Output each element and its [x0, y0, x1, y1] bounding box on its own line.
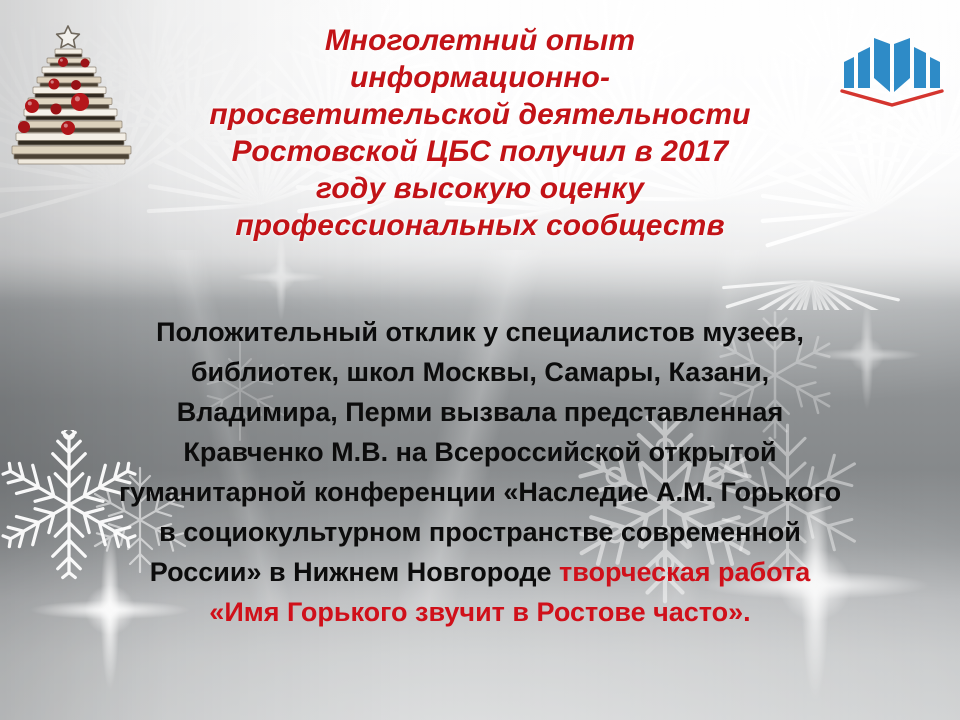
body-text-run: в социокультурном пространстве современн… — [159, 517, 801, 547]
title-line: Ростовской ЦБС получил в 2017 — [150, 133, 810, 170]
body-text-run: библиотек, школ Москвы, Самары, Казани, — [191, 357, 769, 387]
body-text-run: Кравченко М.В. на Всероссийской открытой — [183, 437, 776, 467]
body-line: «Имя Горького звучит в Ростове часто». — [20, 592, 940, 632]
body-text-run: России» в Нижнем Новгороде — [150, 557, 559, 587]
body-line: Положительный отклик у специалистов музе… — [20, 312, 940, 352]
body-line: Владимира, Перми вызвала представленная — [20, 392, 940, 432]
slide-body-text: Положительный отклик у специалистов музе… — [20, 312, 940, 632]
body-text-highlight: творческая работа — [559, 557, 810, 587]
title-line: году высокую оценку — [150, 170, 810, 207]
body-text-highlight: «Имя Горького звучит в Ростове часто». — [209, 597, 750, 627]
title-line: профессиональных сообществ — [150, 207, 810, 244]
body-text-run: Положительный отклик у специалистов музе… — [156, 317, 804, 347]
body-line: России» в Нижнем Новгороде творческая ра… — [20, 552, 940, 592]
body-line: библиотек, школ Москвы, Самары, Казани, — [20, 352, 940, 392]
logo-red-underline — [842, 91, 942, 105]
body-text-run: гуманитарной конференции «Наследие А.М. … — [119, 477, 841, 507]
body-line: гуманитарной конференции «Наследие А.М. … — [20, 472, 940, 512]
library-open-book-logo — [838, 22, 946, 114]
book-christmas-tree-image — [6, 14, 138, 180]
body-line: Кравченко М.В. на Всероссийской открытой — [20, 432, 940, 472]
title-line: Многолетний опыт — [150, 22, 810, 59]
body-text-run: Владимира, Перми вызвала представленная — [177, 397, 783, 427]
slide-title: Многолетний опыт информационно- просвети… — [150, 22, 810, 244]
star-icon — [57, 26, 80, 48]
body-line: в социокультурном пространстве современн… — [20, 512, 940, 552]
slide-canvas: Многолетний опыт информационно- просвети… — [0, 0, 960, 720]
title-line: информационно- — [150, 59, 810, 96]
title-line: просветительской деятельности — [150, 96, 810, 133]
